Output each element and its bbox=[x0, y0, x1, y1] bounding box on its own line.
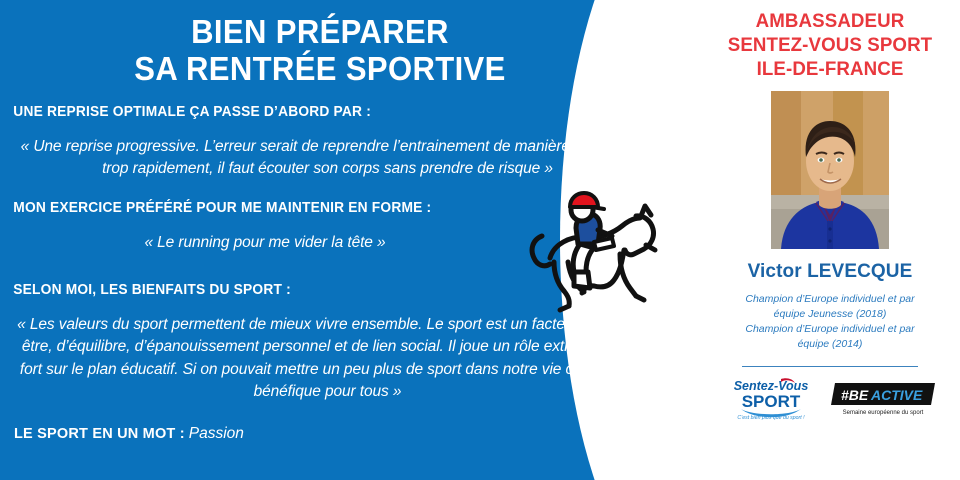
athlete-title-line-2: équipe Jeunesse (2018) bbox=[726, 307, 934, 322]
ambassador-line-1: AMBASSADEUR bbox=[705, 10, 955, 34]
title-line-1: BIEN PRÉPARER bbox=[191, 13, 449, 50]
ambassador-line-2: SENTEZ-VOUS SPORT bbox=[705, 34, 955, 58]
ambassador-heading: AMBASSADEUR SENTEZ-VOUS SPORT ILE-DE-FRA… bbox=[705, 0, 955, 81]
logo-row: Sentez-Vous SPORT C’est bien plus que du… bbox=[700, 376, 960, 427]
svg-text:Semaine européenne du sport: Semaine européenne du sport bbox=[843, 410, 924, 416]
question-answer-1: « Une reprise progressive. L’erreur sera… bbox=[0, 136, 655, 181]
logo-separator bbox=[742, 366, 918, 367]
athlete-titles: Champion d’Europe individuel et par équi… bbox=[700, 292, 960, 352]
poster-root: BIEN PRÉPARER SA RENTRÉE SPORTIVE UNE RE… bbox=[0, 0, 960, 480]
athlete-title-line-4: équipe (2014) bbox=[726, 337, 934, 352]
beactive-logo: #BE ACTIVE Semaine européenne du sport bbox=[831, 381, 935, 422]
question-block-1: UNE REPRISE OPTIMALE ÇA PASSE D’ABORD PA… bbox=[0, 104, 660, 181]
page-title: BIEN PRÉPARER SA RENTRÉE SPORTIVE bbox=[19, 0, 621, 88]
athlete-photo bbox=[771, 91, 889, 249]
athlete-title-line-3: Champion d’Europe individuel et par bbox=[726, 322, 934, 337]
question-answer-3: « Les valeurs du sport permettent de mie… bbox=[0, 314, 655, 404]
question-answer-2: « Le running pour me vider la tête » bbox=[0, 232, 530, 254]
one-word-label: LE SPORT EN UN MOT : bbox=[14, 426, 185, 442]
one-word-row: LE SPORT EN UN MOT : Passion bbox=[14, 425, 244, 443]
title-line-2: SA RENTRÉE SPORTIVE bbox=[19, 51, 621, 88]
svg-text:SPORT: SPORT bbox=[742, 392, 801, 411]
athlete-name: Victor LEVECQUE bbox=[700, 261, 960, 283]
equestrian-rider-icon bbox=[524, 188, 674, 318]
svg-text:ACTIVE: ACTIVE bbox=[870, 387, 923, 403]
ambassador-line-3: ILE-DE-FRANCE bbox=[705, 58, 955, 82]
sentez-vous-sport-logo: Sentez-Vous SPORT C’est bien plus que du… bbox=[725, 376, 817, 427]
one-word-value: Passion bbox=[189, 425, 244, 442]
right-column: AMBASSADEUR SENTEZ-VOUS SPORT ILE-DE-FRA… bbox=[700, 0, 960, 480]
question-label-1: UNE REPRISE OPTIMALE ÇA PASSE D’ABORD PA… bbox=[0, 104, 627, 120]
svg-text:Sentez-Vous: Sentez-Vous bbox=[734, 379, 809, 393]
svg-text:C’est bien plus que du sport !: C’est bien plus que du sport ! bbox=[737, 415, 805, 421]
athlete-title-line-1: Champion d’Europe individuel et par bbox=[726, 292, 934, 307]
svg-text:#BE: #BE bbox=[841, 387, 869, 403]
